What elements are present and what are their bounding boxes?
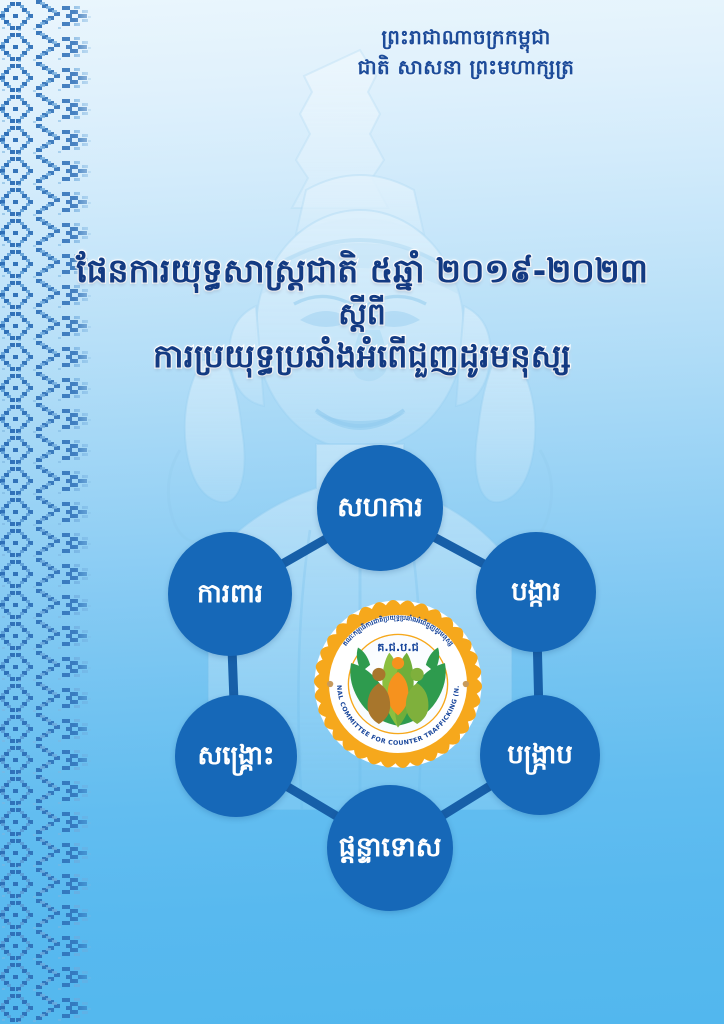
strategy-hexagon-diagram: សហការ បង្ការ បង្ក្រាប ផ្តន្ទាទោស សង្គ្រោ…	[140, 440, 620, 905]
node-protection[interactable]: ការពារ	[168, 532, 292, 656]
node-rescue[interactable]: សង្គ្រោះ	[175, 695, 297, 817]
node-suppression-label: បង្ក្រាប	[501, 741, 579, 770]
khmer-textile-border	[0, 0, 104, 1024]
node-cooperation[interactable]: សហការ	[317, 445, 443, 571]
royal-header-line-1: ព្រះរាជាណាចក្រកម្ពុជា	[256, 22, 676, 52]
node-rescue-label: សង្គ្រោះ	[192, 742, 281, 771]
emblem-abbreviation: គ.ជ.ប.ជ	[377, 641, 419, 654]
node-suppression[interactable]: បង្ក្រាប	[480, 695, 600, 815]
ncct-emblem-logo: គណៈកម្មាធិការជាតិប្រយុទ្ធប្រឆាំងអំពើជួញដ…	[311, 597, 485, 771]
node-prevention[interactable]: បង្ការ	[476, 532, 596, 652]
node-prevention-label: បង្ការ	[505, 578, 567, 607]
royal-header-line-2: ជាតិ សាសនា ព្រះមហាក្សត្រ	[256, 52, 676, 82]
page-title: ផែនការយុទ្ធសាស្ត្រជាតិ ៥ឆ្នាំ ២០១៩-២០២៣ …	[62, 250, 662, 377]
node-punishment-label: ផ្តន្ទាទោស	[333, 833, 448, 863]
title-line-1: ផែនការយុទ្ធសាស្ត្រជាតិ ៥ឆ្នាំ ២០១៩-២០២៣	[62, 250, 662, 293]
node-protection-label: ការពារ	[191, 580, 269, 609]
title-line-2: ស្តីពី	[62, 295, 662, 334]
node-punishment[interactable]: ផ្តន្ទាទោស	[327, 785, 453, 911]
title-line-3: ការប្រយុទ្ធប្រឆាំងអំពើជួញដូរមនុស្ស	[62, 336, 662, 378]
node-cooperation-label: សហការ	[331, 493, 429, 523]
royal-header: ព្រះរាជាណាចក្រកម្ពុជា ជាតិ សាសនា ព្រះមហា…	[256, 22, 676, 83]
document-cover: ព្រះរាជាណាចក្រកម្ពុជា ជាតិ សាសនា ព្រះមហា…	[0, 0, 724, 1024]
